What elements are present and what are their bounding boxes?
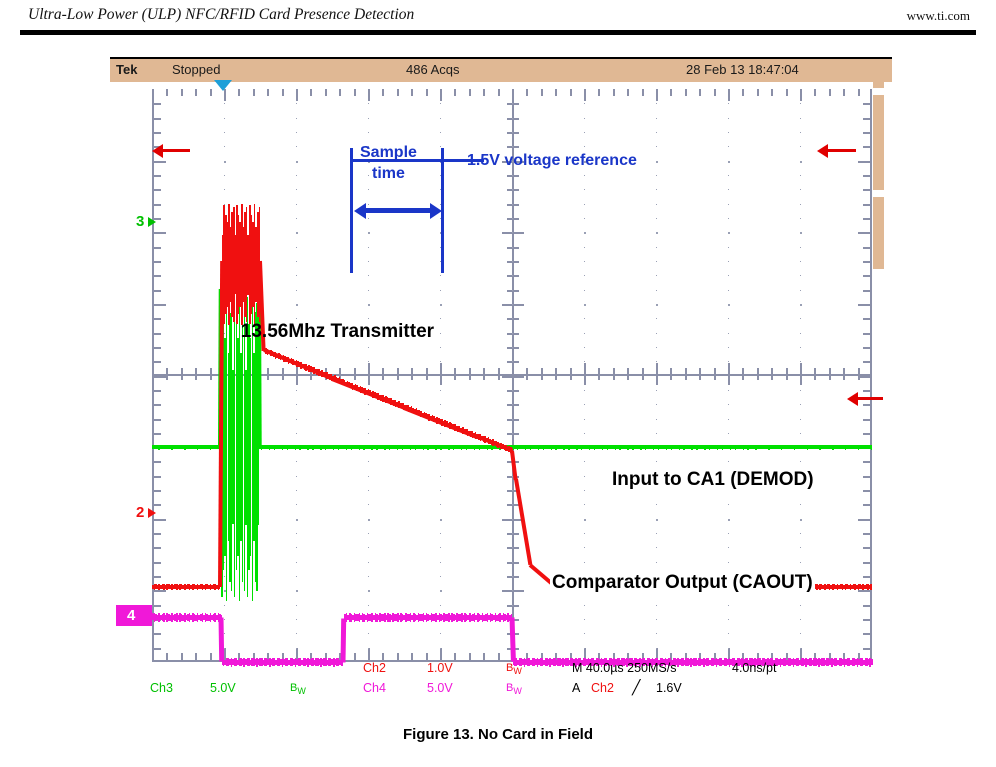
- header-url: www.ti.com: [907, 8, 970, 24]
- sample-time-arrow-shaft: [363, 208, 431, 213]
- readout-ch4-bandwidth: BW: [506, 682, 522, 696]
- sample-time-label-line2: time: [372, 165, 405, 183]
- readout-ch2-name[interactable]: Ch2: [363, 661, 386, 675]
- channel-marker-ch4: 4: [127, 608, 135, 623]
- trigger-slope-icon: ╱: [632, 679, 640, 696]
- readout-resolution: 4.0ns/pt: [732, 661, 776, 675]
- readout-ch4-name[interactable]: Ch4: [363, 681, 386, 695]
- sample-time-cursor-left[interactable]: [350, 148, 353, 273]
- caout-annotation: Comparator Output (CAOUT): [550, 572, 815, 594]
- ch2-level-arrow-shaft: [857, 397, 883, 400]
- position-bar-segment-top[interactable]: [873, 80, 884, 88]
- readout-trigger-level[interactable]: 1.6V: [656, 681, 682, 695]
- scope-readout-bar: Ch3 5.0V BW Ch2 1.0V BW Ch4 5.0V BW M 40…: [110, 657, 892, 705]
- header-divider: [20, 30, 976, 35]
- channel-marker-ch2-arrow: [148, 508, 156, 518]
- channel-marker-ch3-arrow: [148, 217, 156, 227]
- readout-timebase[interactable]: M 40.0µs 250MS/s: [572, 661, 676, 675]
- acquisition-count-label: 486 Acqs: [406, 62, 460, 77]
- sample-time-arrow-head-right: [430, 203, 442, 219]
- acquisition-state-label: Stopped: [172, 62, 220, 77]
- voltage-reference-label: 1.5V voltage reference: [467, 152, 637, 170]
- readout-trigger-label: A: [572, 681, 580, 695]
- trigger-position-marker[interactable]: [214, 80, 232, 91]
- channel-marker-ch2[interactable]: 2: [136, 505, 144, 520]
- ch2-level-arrow-head[interactable]: [847, 392, 858, 406]
- demod-annotation: Input to CA1 (DEMOD): [610, 469, 816, 491]
- readout-ch3-scale[interactable]: 5.0V: [210, 681, 236, 695]
- readout-ch2-scale[interactable]: 1.0V: [427, 661, 453, 675]
- readout-trigger-source[interactable]: Ch2: [591, 681, 614, 695]
- voltage-reference-line: [352, 159, 484, 162]
- figure-caption: Figure 13. No Card in Field: [0, 726, 996, 743]
- channel-marker-ch4-box[interactable]: 4: [116, 605, 152, 626]
- readout-ch2-bandwidth: BW: [506, 662, 522, 676]
- channel-marker-ch4-arrow: [148, 610, 156, 620]
- tek-brand-label: Tek: [116, 62, 137, 77]
- sample-time-arrow-head-left: [354, 203, 366, 219]
- readout-ch3-name[interactable]: Ch3: [150, 681, 173, 695]
- graticule-right-axis: [870, 89, 872, 662]
- oscilloscope-screenshot: Tek Stopped 486 Acqs 28 Feb 13 18:47:04 …: [110, 57, 892, 660]
- scope-status-bar: Tek Stopped 486 Acqs 28 Feb 13 18:47:04: [110, 57, 892, 82]
- position-bar-segment-lower[interactable]: [873, 197, 884, 269]
- trigger-level-arrow-left-head[interactable]: [152, 144, 163, 158]
- channel-marker-ch3[interactable]: 3: [136, 214, 144, 229]
- position-bar-segment-upper[interactable]: [873, 95, 884, 190]
- trigger-level-arrow-right-head[interactable]: [817, 144, 828, 158]
- transmitter-title-label: 13.56Mhz Transmitter: [241, 321, 434, 343]
- page-header: Ultra-Low Power (ULP) NFC/RFID Card Pres…: [0, 0, 996, 40]
- page-title: Ultra-Low Power (ULP) NFC/RFID Card Pres…: [28, 6, 414, 24]
- datetime-label: 28 Feb 13 18:47:04: [686, 62, 799, 77]
- readout-ch3-bandwidth: BW: [290, 682, 306, 696]
- trigger-level-arrow-right-shaft: [828, 149, 856, 152]
- readout-ch4-scale[interactable]: 5.0V: [427, 681, 453, 695]
